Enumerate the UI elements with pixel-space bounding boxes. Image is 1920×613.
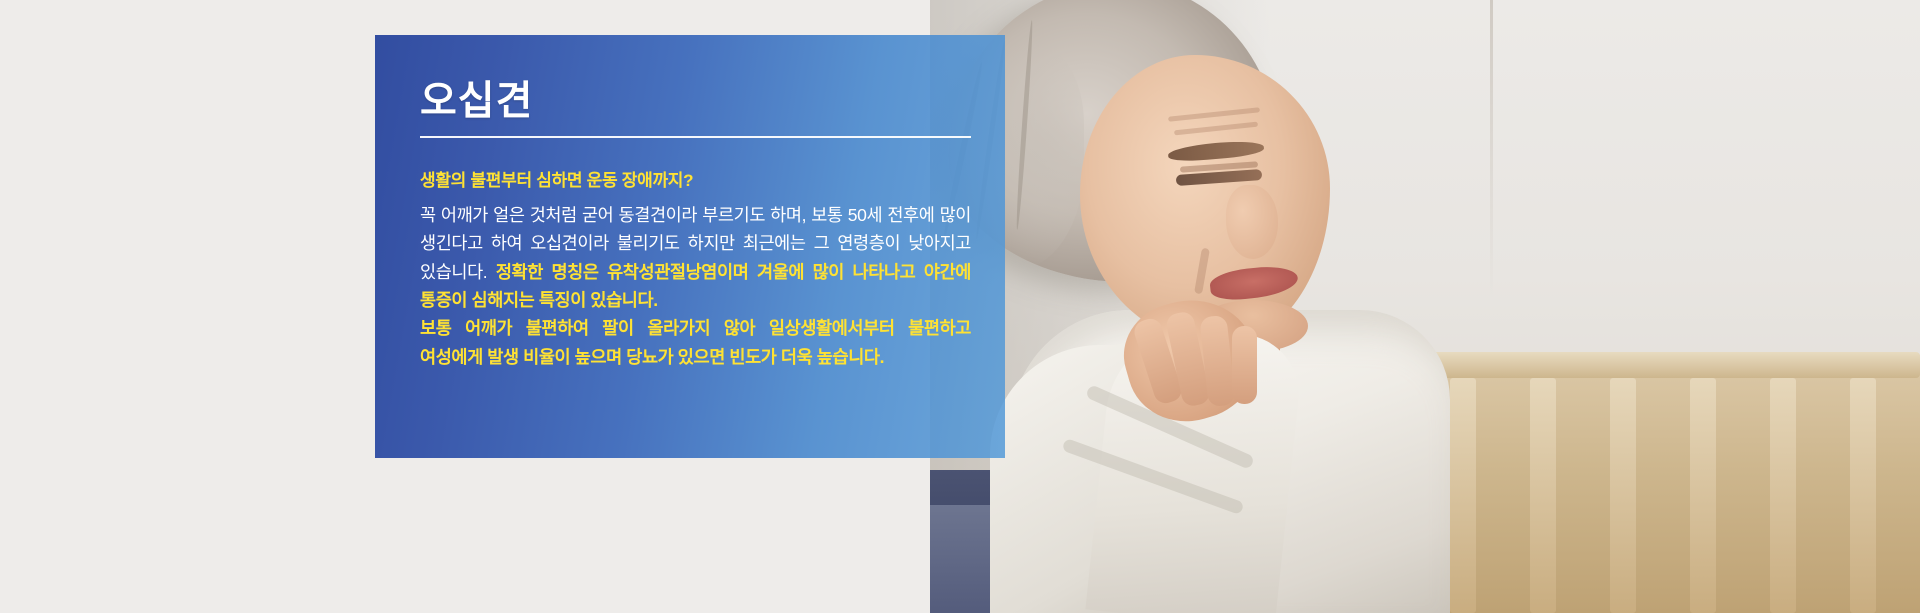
title-divider (420, 136, 971, 138)
woman-nose (1226, 185, 1278, 259)
wall-seam (1490, 0, 1493, 300)
bed-slat (1530, 378, 1556, 613)
bed-slat (1450, 378, 1476, 613)
description-highlight-a: 정확한 명칭은 유착성관절낭염이며 겨울에 많이 나타나고 야간에 통증이 심해… (420, 262, 971, 310)
info-panel-content: 오십견 생활의 불편부터 심하면 운동 장애까지? 꼭 어깨가 얼은 것처럼 굳… (420, 80, 971, 371)
patient-photo (930, 0, 1920, 613)
bed-slat (1770, 378, 1796, 613)
bed-slat (1850, 378, 1876, 613)
description-paragraph-2: 보통 어깨가 불편하여 팔이 올라가지 않아 일상생활에서부터 불편하고 여성에… (420, 314, 971, 371)
woman-finger (1232, 326, 1257, 404)
description-plain-b: 이 있습니다. (570, 290, 657, 310)
page-title: 오십견 (420, 80, 971, 136)
bed-slat (1690, 378, 1716, 613)
shoulder-pain-banner: 오십견 생활의 불편부터 심하면 운동 장애까지? 꼭 어깨가 얼은 것처럼 굳… (0, 0, 1920, 613)
bed-slat (1610, 378, 1636, 613)
description-paragraph-1: 꼭 어깨가 얼은 것처럼 굳어 동결견이라 부르기도 하며, 보통 50세 전후… (420, 201, 971, 314)
lead-question: 생활의 불편부터 심하면 운동 장애까지? (420, 170, 971, 192)
info-panel: 오십견 생활의 불편부터 심하면 운동 장애까지? 꼭 어깨가 얼은 것처럼 굳… (375, 35, 1005, 458)
